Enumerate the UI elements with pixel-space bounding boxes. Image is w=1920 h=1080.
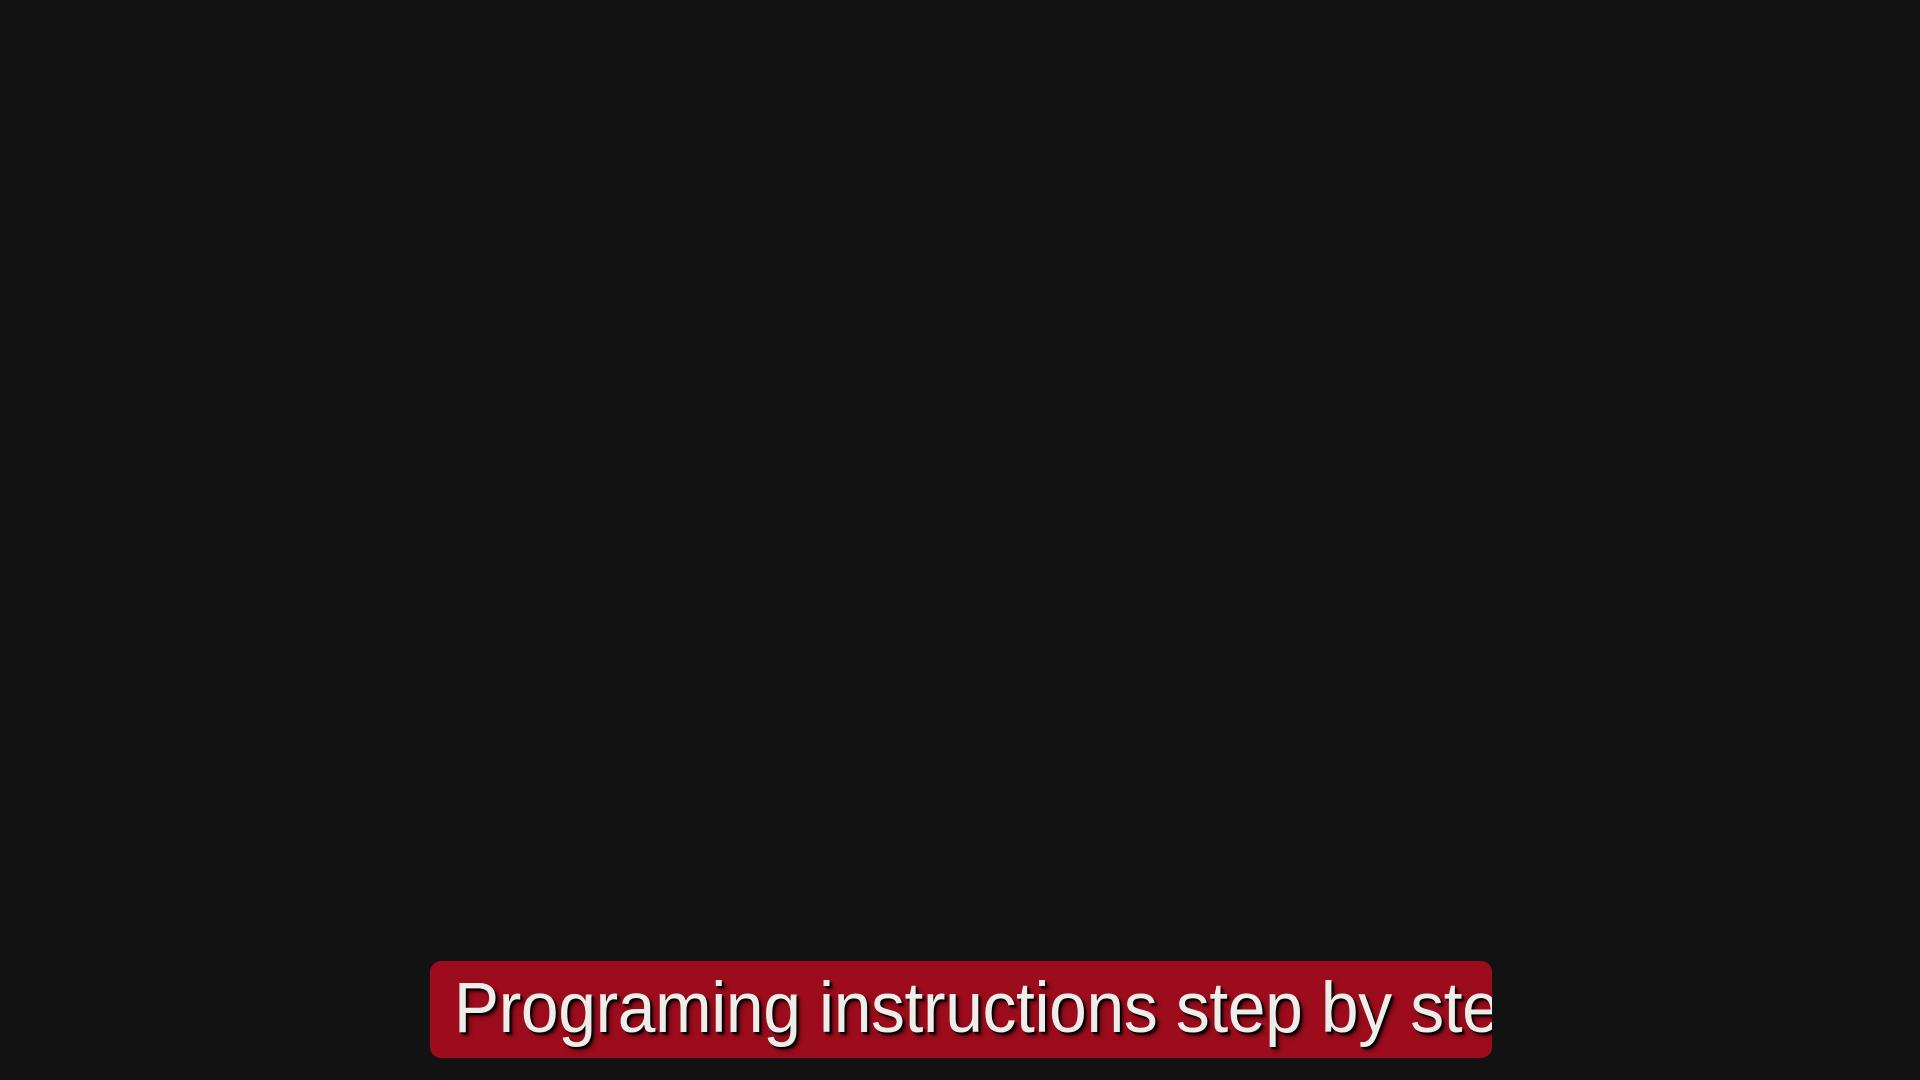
caption-banner: Programing instructions step by step [430, 961, 1492, 1058]
caption-text: Programing instructions step by step [454, 973, 1468, 1047]
video-canvas [0, 0, 1920, 1080]
video-frame: Programing instructions step by step [0, 0, 1920, 1080]
